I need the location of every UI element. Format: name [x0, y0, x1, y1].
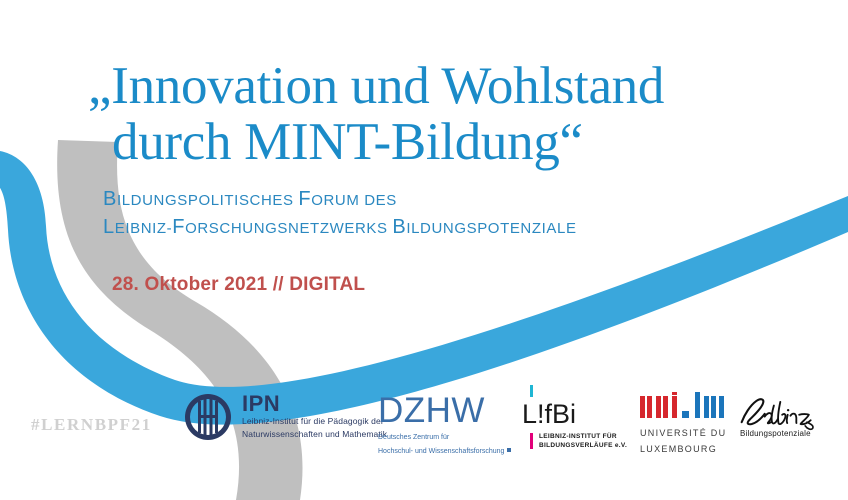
- unilu-bars-icon: [640, 392, 724, 418]
- lifbi-subtitle-line-1: LEIBNIZ-INSTITUT FÜR: [539, 432, 627, 441]
- lifbi-magenta-tick-icon: [530, 433, 533, 449]
- event-date: 28. Oktober 2021 // DIGITAL: [112, 274, 365, 296]
- sub2-seg-3: ORSCHUNGSNETZWERKS: [185, 220, 392, 237]
- dzhw-subtitle-line-2: Hochschul- und Wissenschaftsforschung: [378, 447, 511, 457]
- dzhw-subtitle-line-2-text: Hochschul- und Wissenschaftsforschung: [378, 448, 504, 455]
- subtitle-line-1: BILDUNGSPOLITISCHES FORUM DES: [103, 186, 577, 214]
- sub2-seg-5: ILDUNGSPOTENZIALE: [406, 220, 576, 237]
- title-line-1: „Innovation und Wohlstand: [88, 58, 778, 114]
- logo-dzhw: DZHW Deutsches Zentrum für Hochschul- un…: [378, 393, 511, 456]
- dzhw-square-icon: [507, 448, 511, 452]
- logo-ipn: IPN Leibniz-Institut für die Pädagogik d…: [183, 392, 387, 442]
- sub1-seg-3: ORUM DES: [311, 192, 397, 209]
- logo-leibniz: Bildungspotenziale: [738, 392, 830, 439]
- ipn-circle-bars-icon: [183, 392, 233, 442]
- page-title: „Innovation und Wohlstand durch MINT-Bil…: [88, 58, 778, 170]
- subtitle-line-2: LEIBNIZ-FORSCHUNGSNETZWERKS BILDUNGSPOTE…: [103, 214, 577, 242]
- unilu-subtitle-line-1: UNIVERSITÉ DU: [640, 427, 726, 439]
- leibniz-signature-icon: [738, 392, 830, 432]
- logo-lifbi: L!fBi LEIBNIZ-INSTITUT FÜR BILDUNGSVERLÄ…: [522, 385, 627, 450]
- unilu-subtitle-line-2: LUXEMBOURG: [640, 443, 726, 455]
- ipn-subtitle-line-1: Leibniz-Institut für die Pädagogik der: [242, 416, 387, 427]
- sub1-seg-1: ILDUNGSPOLITISCHES: [117, 192, 298, 209]
- title-line-2: durch MINT-Bildung“: [112, 114, 778, 170]
- ipn-subtitle-line-2: Naturwissenschaften und Mathematik: [242, 429, 387, 440]
- lifbi-subtitle-line-2: BILDUNGSVERLÄUFE e.V.: [539, 441, 627, 450]
- sub1-seg-2: F: [298, 188, 311, 210]
- sub2-seg-1: EIBNIZ-: [115, 220, 173, 237]
- hashtag-label: #LERNBPF21: [31, 415, 152, 435]
- lifbi-wordmark: L!fBi: [522, 399, 627, 429]
- subtitle: BILDUNGSPOLITISCHES FORUM DES LEIBNIZ-FO…: [103, 186, 577, 242]
- dzhw-wordmark: DZHW: [378, 393, 511, 429]
- dzhw-subtitle-line-1: Deutsches Zentrum für: [378, 433, 511, 443]
- slide-canvas: „Innovation und Wohlstand durch MINT-Bil…: [0, 0, 848, 500]
- sub2-seg-0: L: [103, 216, 115, 238]
- lifbi-cyan-tick-icon: [530, 385, 533, 397]
- sub1-seg-0: B: [103, 188, 117, 210]
- ipn-wordmark: IPN: [242, 394, 387, 414]
- logo-unilu: UNIVERSITÉ DU LUXEMBOURG: [640, 392, 726, 455]
- sub2-seg-2: F: [172, 216, 185, 238]
- sub2-seg-4: B: [392, 216, 406, 238]
